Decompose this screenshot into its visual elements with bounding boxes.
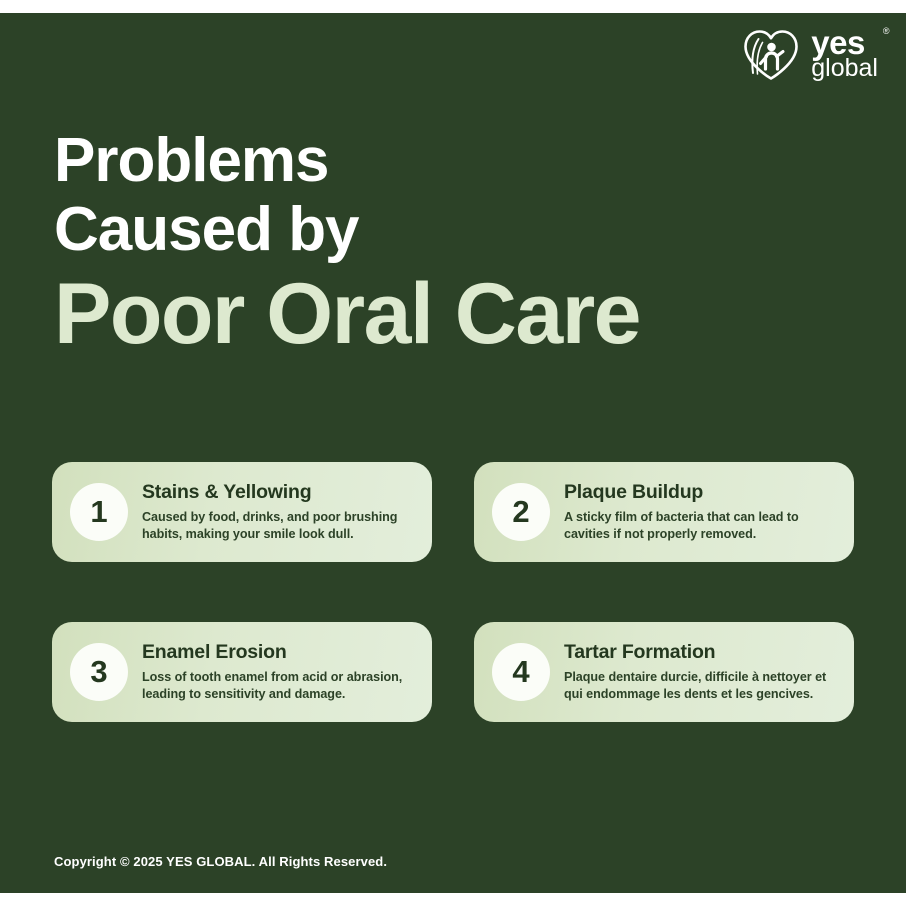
problem-card-2[interactable]: 2 Plaque Buildup A sticky film of bacter… — [474, 462, 854, 562]
copyright-notice: Copyright © 2025 YES GLOBAL. All Rights … — [54, 854, 387, 869]
card-title: Stains & Yellowing — [142, 481, 416, 504]
card-number-badge: 3 — [70, 643, 128, 701]
problem-card-grid: 1 Stains & Yellowing Caused by food, dri… — [52, 462, 854, 722]
card-body: Stains & Yellowing Caused by food, drink… — [142, 481, 416, 543]
card-description: Caused by food, drinks, and poor brushin… — [142, 509, 416, 543]
card-body: Enamel Erosion Loss of tooth enamel from… — [142, 641, 416, 703]
card-description: A sticky film of bacteria that can lead … — [564, 509, 838, 543]
headline-accent: Poor Oral Care — [54, 269, 640, 359]
card-number-badge: 2 — [492, 483, 550, 541]
heart-person-icon — [740, 27, 802, 81]
problem-card-3[interactable]: 3 Enamel Erosion Loss of tooth enamel fr… — [52, 622, 432, 722]
card-number-badge: 4 — [492, 643, 550, 701]
card-body: Tartar Formation Plaque dentaire durcie,… — [564, 641, 838, 703]
page-title: Problems Caused by Poor Oral Care — [54, 126, 640, 359]
brand-name-secondary: global — [811, 58, 878, 80]
brand-logo: yes® global — [740, 27, 878, 81]
card-description: Loss of tooth enamel from acid or abrasi… — [142, 669, 416, 703]
card-title: Tartar Formation — [564, 641, 838, 664]
poster-canvas: yes® global Problems Caused by Poor Oral… — [0, 0, 906, 906]
card-body: Plaque Buildup A sticky film of bacteria… — [564, 481, 838, 543]
card-title: Plaque Buildup — [564, 481, 838, 504]
problem-card-1[interactable]: 1 Stains & Yellowing Caused by food, dri… — [52, 462, 432, 562]
brand-name-primary-text: yes — [811, 24, 865, 61]
brand-wordmark: yes® global — [811, 29, 878, 80]
card-description: Plaque dentaire durcie, difficile à nett… — [564, 669, 838, 703]
headline-line-1: Problems — [54, 126, 640, 195]
brand-name-primary: yes® — [811, 29, 878, 57]
poster-background: yes® global Problems Caused by Poor Oral… — [0, 13, 906, 893]
card-number-badge: 1 — [70, 483, 128, 541]
registered-trademark-icon: ® — [883, 28, 889, 36]
headline-line-2: Caused by — [54, 195, 640, 264]
problem-card-4[interactable]: 4 Tartar Formation Plaque dentaire durci… — [474, 622, 854, 722]
card-title: Enamel Erosion — [142, 641, 416, 664]
